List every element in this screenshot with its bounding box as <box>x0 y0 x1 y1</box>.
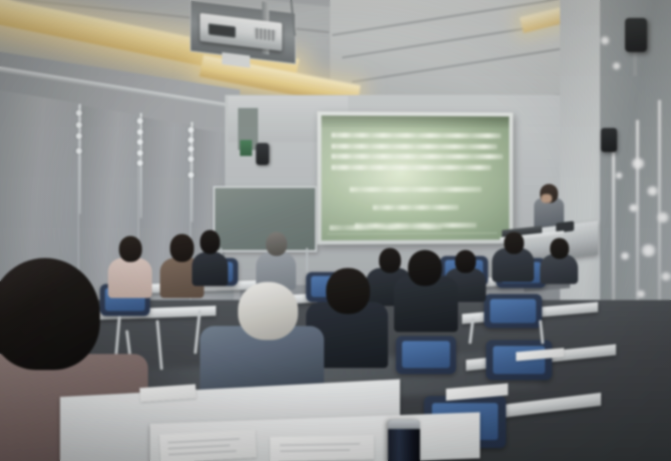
sunlight-spot <box>646 186 659 196</box>
chain-bead <box>76 122 82 128</box>
chain-bead <box>188 156 194 162</box>
tumbler-lid <box>388 420 420 429</box>
slide-numbered-list <box>331 133 501 175</box>
chain-bead <box>76 133 82 139</box>
attendee-head <box>200 230 220 254</box>
attendee-head <box>504 232 524 254</box>
paper-text-line <box>168 445 230 449</box>
sunlight-spot <box>656 212 670 223</box>
attendee-body <box>108 258 152 298</box>
chain-bead <box>188 127 194 133</box>
sunlight-spot <box>615 172 623 179</box>
paper-text-line <box>168 438 240 443</box>
slide-list-line <box>331 143 497 148</box>
slide-footer-line <box>329 225 441 230</box>
chain-bead <box>137 139 143 145</box>
chain-bead <box>137 129 143 135</box>
attendee-head <box>550 238 569 259</box>
chair[interactable] <box>484 294 542 328</box>
attendee-head <box>170 234 194 262</box>
chair-seat-pad <box>490 299 536 323</box>
chalkboard <box>213 186 317 252</box>
chain-bead <box>188 172 194 178</box>
attendee-head <box>0 258 100 370</box>
chair[interactable] <box>396 336 456 374</box>
chain-bead <box>188 137 194 143</box>
sunlight-spot <box>636 290 646 298</box>
chain-bead <box>76 110 82 116</box>
sunlight-spot <box>640 244 657 257</box>
chain-bead <box>137 150 143 156</box>
sunlight-spot <box>612 62 621 70</box>
sunlight-spot <box>628 204 639 212</box>
projection-screen <box>321 115 509 240</box>
chair-seat-pad <box>402 341 450 368</box>
sunlight-spot <box>660 272 671 281</box>
attendee-head <box>379 248 401 273</box>
attendee-head <box>119 236 142 262</box>
paper-text-line <box>168 451 236 456</box>
sunlight-spot <box>600 36 610 45</box>
paper-text-line <box>280 443 360 445</box>
attendee-head <box>455 250 476 273</box>
slide-center-line <box>350 187 482 192</box>
attendee-head <box>408 250 442 286</box>
window-slat <box>636 120 639 330</box>
attendee-head <box>238 282 298 340</box>
handout-paper <box>270 435 374 461</box>
chain-bead <box>137 118 143 124</box>
chalkboard-leg <box>306 248 308 272</box>
chain-bead <box>188 146 194 152</box>
paper-text-line <box>280 450 350 452</box>
slide-list-line <box>331 133 501 139</box>
sunlight-spot <box>620 252 630 260</box>
blind-pull-chain[interactable] <box>79 104 81 214</box>
travel-tumbler <box>388 420 420 461</box>
sunlight-spot <box>630 158 646 169</box>
attendee-head <box>326 268 370 314</box>
handout-paper <box>159 430 256 461</box>
exit-sign-icon <box>240 140 252 156</box>
speaker-bracket <box>633 50 637 76</box>
chain-bead <box>76 148 82 154</box>
attendee-head <box>266 232 287 256</box>
lecture-room-photo <box>0 0 671 461</box>
wall-speaker-icon <box>256 143 269 165</box>
attendee-body <box>192 252 228 286</box>
wall-speaker-icon <box>625 18 647 52</box>
wall-speaker-icon <box>601 128 617 152</box>
slide-list-line <box>331 164 491 169</box>
presenter-face <box>541 194 552 203</box>
projector-lens-icon <box>208 23 236 38</box>
slide-center-line <box>373 205 459 210</box>
chain-bead <box>137 160 143 166</box>
projector-vent-icon <box>254 28 276 42</box>
slide-list-line <box>331 154 503 159</box>
